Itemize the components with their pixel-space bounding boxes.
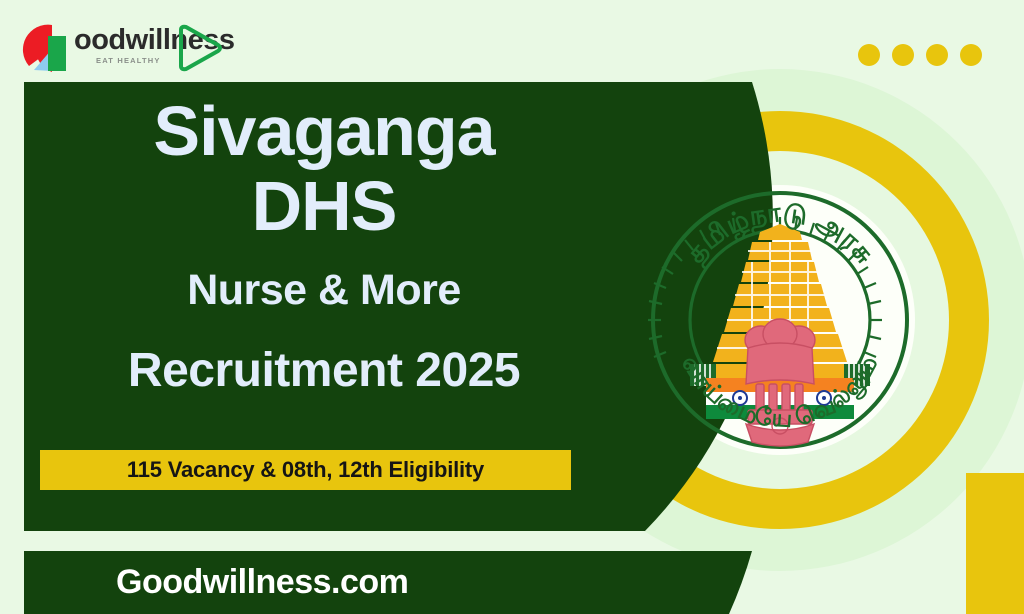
eligibility-badge: 115 Vacancy & 08th, 12th Eligibility (40, 450, 571, 490)
decorative-dot-row (858, 44, 982, 66)
goodwillness-pie-logo-icon (22, 22, 80, 74)
poster-canvas: oodwillness EAT HEALTHY (0, 0, 1024, 614)
dot-icon-3 (926, 44, 948, 66)
headline-line-1: Sivaganga (153, 96, 494, 167)
dot-icon-1 (858, 44, 880, 66)
dot-icon-2 (892, 44, 914, 66)
dot-icon-4 (960, 44, 982, 66)
headline-line-3: Nurse & More (187, 269, 461, 313)
brand-logo[interactable]: oodwillness EAT HEALTHY (22, 18, 222, 80)
brand-tagline: EAT HEALTHY (96, 56, 161, 65)
headline-line-2: DHS (252, 171, 397, 242)
play-triangle-outline-icon (174, 22, 226, 74)
decor-corner-block-yellow (966, 473, 1024, 614)
footer-site-url[interactable]: Goodwillness.com (116, 563, 408, 602)
headline-line-4: Recruitment 2025 (128, 347, 520, 396)
headline-block: Sivaganga DHS Nurse & More Recruitment 2… (24, 82, 624, 442)
tamil-nadu-government-emblem: தமிழ்நாடு அரசு வாய்மையே வெல்லும் (648, 188, 912, 452)
eligibility-badge-text: 115 Vacancy & 08th, 12th Eligibility (127, 457, 484, 483)
